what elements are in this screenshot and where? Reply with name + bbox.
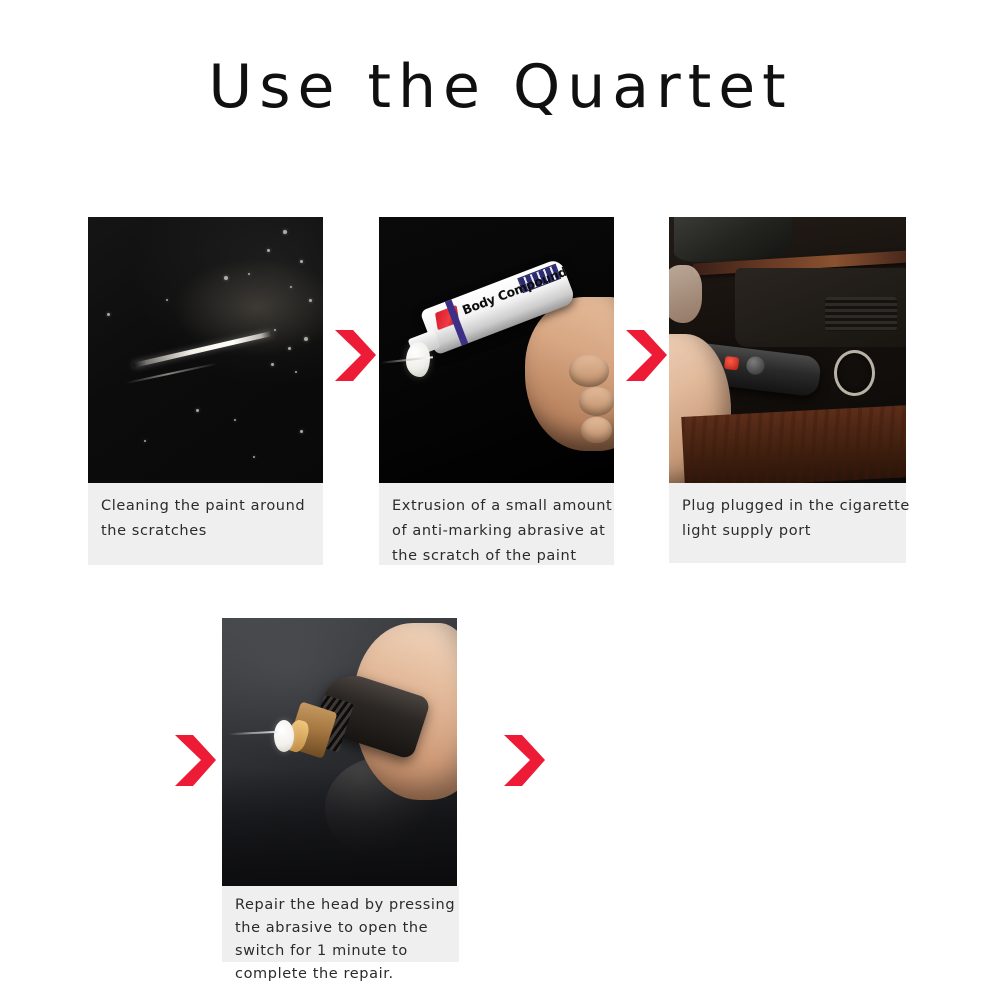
finger-3 [581,417,612,444]
chevron-right-icon [622,328,668,384]
step-3-caption-line-1: Plug plugged in the cigarette [682,494,893,519]
arrow-step-1-to-2 [331,328,377,384]
chevron-right-icon [171,733,217,789]
step-1-photo [88,217,323,483]
step-2-photo: Body Compound [379,217,614,483]
step-2-caption-line-2: of anti-marking abrasive at [392,519,601,544]
buffing-pad [274,720,294,752]
step-2-caption: Extrusion of a small amount of anti-mark… [379,483,614,565]
step-4-caption: Repair the head by pressing the abrasive… [222,886,459,962]
power-button-icon [724,355,739,370]
step-card-1: Cleaning the paint around the scratches [88,217,323,565]
step-card-3: Plug plugged in the cigarette light supp… [669,217,906,563]
hand-upper-left [669,265,702,324]
step-3-caption-line-2: light supply port [682,519,893,544]
cigarette-lighter-socket [834,350,876,396]
step-4-caption-line-2: the abrasive to open the [235,917,446,940]
finger-1 [569,355,609,387]
step-1-caption-line-1: Cleaning the paint around [101,494,310,519]
tube-brand-label: Body Compound [461,264,570,318]
finger-2 [579,387,614,416]
step-1-caption-line-2: the scratches [101,519,310,544]
step-4-photo [222,618,457,886]
chevron-right-icon [500,733,546,789]
step-2-caption-line-3: the scratch of the paint [392,544,601,569]
step-2-caption-line-1: Extrusion of a small amount [392,494,601,519]
speed-dial [746,356,765,376]
step-4-caption-line-4: complete the repair. [235,963,446,986]
step-3-photo [669,217,906,483]
arrow-step-3-to-4 [171,733,217,789]
step-3-caption: Plug plugged in the cigarette light supp… [669,483,906,563]
chevron-right-icon [331,328,377,384]
windshield-glass [674,217,793,262]
page-title: Use the Quartet [0,52,1001,122]
scratch-highlight [229,731,278,735]
step-card-2: Body Compound Extrusion of a small amoun… [379,217,614,565]
wood-console-surface [681,405,906,483]
dash-vent [825,297,896,332]
arrow-step-4-end [500,733,546,789]
arrow-step-2-to-3 [622,328,668,384]
step-1-caption: Cleaning the paint around the scratches [88,483,323,565]
step-card-4: Repair the head by pressing the abrasive… [222,618,459,962]
step-4-caption-line-1: Repair the head by pressing [235,894,446,917]
step-4-caption-line-3: switch for 1 minute to [235,940,446,963]
